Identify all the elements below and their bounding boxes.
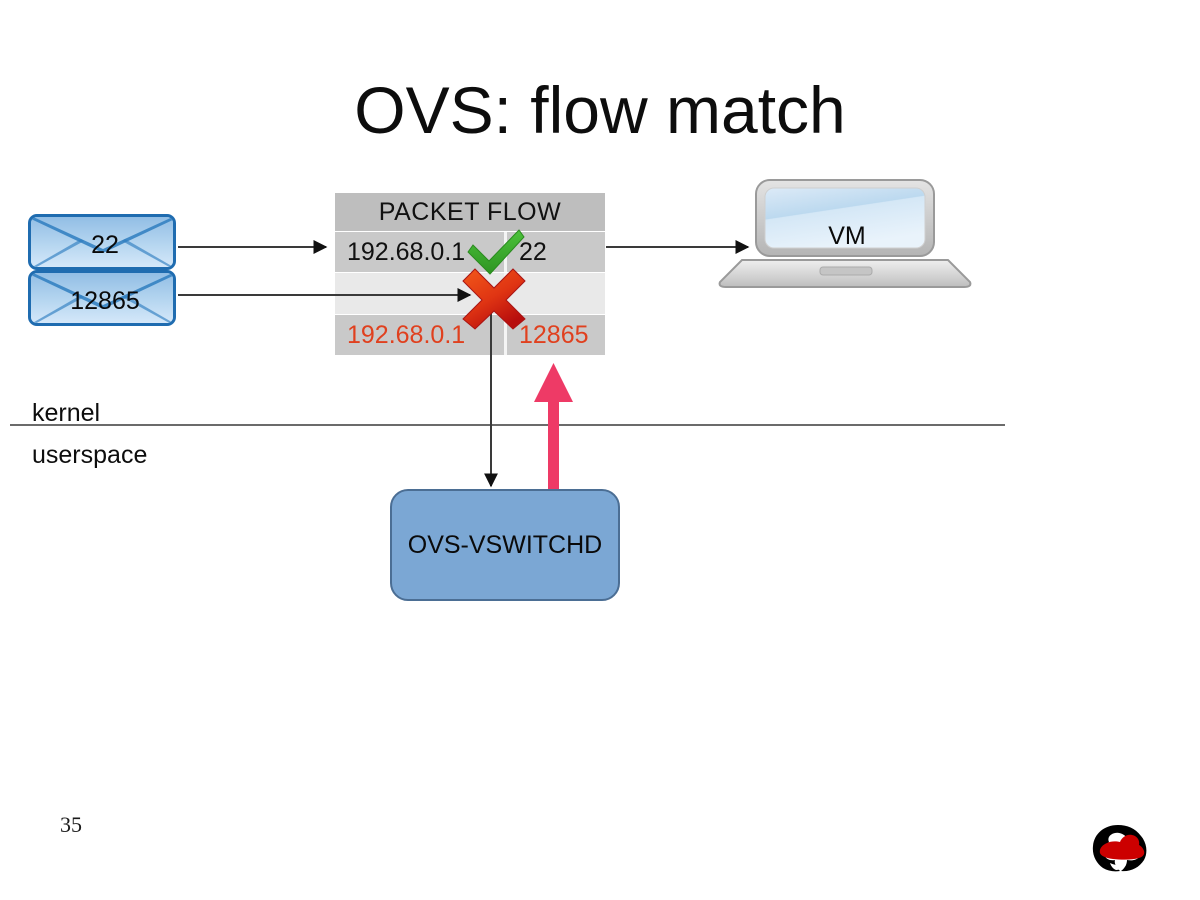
envelope-port-22: 22: [28, 214, 176, 270]
envelope-port-12865: 12865: [28, 270, 176, 326]
ovs-vswitchd-box: OVS-VSWITCHD: [390, 489, 620, 601]
page-number: 35: [60, 812, 82, 838]
envelope-label: 22: [31, 217, 176, 270]
vm-label: VM: [762, 222, 932, 251]
kernel-userspace-divider: [10, 424, 1005, 426]
ovs-vswitchd-label: OVS-VSWITCHD: [408, 531, 602, 560]
arrow-flow-install-to-table: [534, 363, 573, 489]
slide-canvas: OVS: flow match 22: [0, 0, 1200, 900]
red-x-icon: [462, 268, 526, 330]
userspace-label: userspace: [32, 441, 147, 470]
packet-flow-header: PACKET FLOW: [335, 193, 605, 231]
envelope-label: 12865: [31, 273, 176, 326]
red-hat-shadowman-logo: [1082, 822, 1154, 880]
page-title: OVS: flow match: [0, 72, 1200, 148]
